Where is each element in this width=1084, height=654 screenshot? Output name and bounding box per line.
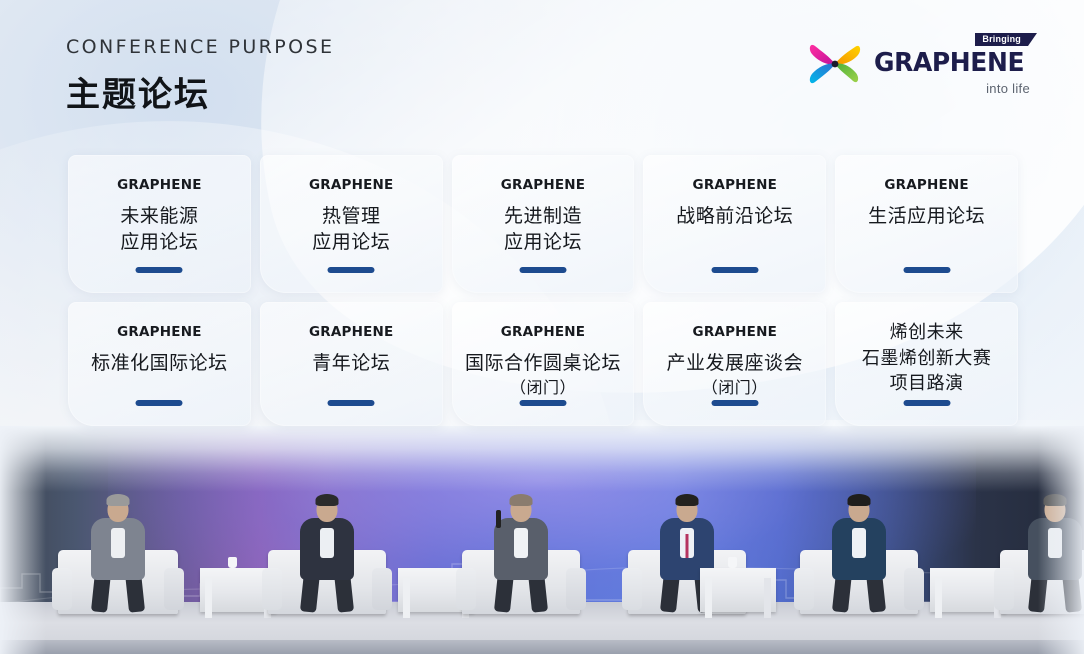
forum-card-accent-bar: [136, 267, 183, 273]
forum-card-accent-bar: [136, 400, 183, 406]
forum-card[interactable]: GRAPHENE热管理应用论坛: [260, 155, 443, 293]
forum-card-title-line: 应用论坛: [504, 230, 582, 256]
forum-card-brand-label: GRAPHENE: [117, 324, 201, 340]
lanyard-icon: [686, 534, 689, 558]
forum-card[interactable]: GRAPHENE战略前沿论坛: [643, 155, 826, 293]
forum-card[interactable]: GRAPHENE生活应用论坛: [835, 155, 1018, 293]
forum-card-title-line: 标准化国际论坛: [91, 351, 228, 377]
forum-card-title-line: 烯创未来: [862, 320, 992, 346]
forum-card-title: 战略前沿论坛: [676, 204, 793, 230]
side-table-3: [700, 568, 776, 612]
forum-card-row: GRAPHENE未来能源应用论坛GRAPHENE热管理应用论坛GRAPHENE先…: [68, 155, 1018, 293]
panelist-1: [58, 488, 178, 614]
forum-card-brand-label: GRAPHENE: [693, 177, 777, 193]
graphene-pinwheel-icon: [802, 34, 868, 96]
forum-card-brand-label: GRAPHENE: [309, 324, 393, 340]
forum-card-title: 未来能源应用论坛: [120, 204, 198, 255]
forum-card-accent-bar: [903, 267, 950, 273]
forum-card-title-line: 战略前沿论坛: [676, 204, 793, 230]
forum-card-title-line: 国际合作圆桌论坛: [465, 351, 621, 377]
logo-tagline: into life: [874, 81, 1030, 96]
forum-card-title-line: 项目路演: [862, 371, 992, 397]
forum-card-accent-bar: [328, 400, 375, 406]
forum-card[interactable]: GRAPHENE标准化国际论坛: [68, 302, 251, 426]
forum-card-brand-label: GRAPHENE: [693, 324, 777, 340]
microphone-icon: [496, 510, 501, 528]
forum-card-title-line: （闭门）: [667, 377, 804, 399]
panelist-6: [1000, 488, 1084, 614]
forum-card-title-line: 产业发展座谈会: [667, 351, 804, 377]
page-title: 主题论坛: [66, 67, 334, 116]
cup-2: [728, 557, 737, 568]
panelist-5: [800, 488, 918, 614]
logo-graphene-text: GRAPHENE: [874, 50, 1024, 76]
forum-card-accent-bar: [711, 400, 758, 406]
forum-card-accent-bar: [328, 267, 375, 273]
slide-root: CONFERENCE PURPOSE 主题论坛: [0, 0, 1084, 654]
forum-card-accent-bar: [711, 267, 758, 273]
forum-card-title: 青年论坛: [312, 351, 390, 377]
forum-card-title-line: （闭门）: [465, 377, 621, 399]
forum-card-brand-label: GRAPHENE: [117, 177, 201, 193]
forum-card-title-line: 先进制造: [504, 204, 582, 230]
forum-card-grid: GRAPHENE未来能源应用论坛GRAPHENE热管理应用论坛GRAPHENE先…: [68, 155, 1018, 426]
forum-card[interactable]: GRAPHENE未来能源应用论坛: [68, 155, 251, 293]
forum-card-title: 热管理应用论坛: [312, 204, 390, 255]
slide-header: CONFERENCE PURPOSE 主题论坛: [66, 36, 334, 116]
forum-card-brand-label: GRAPHENE: [884, 177, 968, 193]
forum-card-brand-label: GRAPHENE: [501, 177, 585, 193]
conference-photo: [0, 426, 1084, 654]
forum-card-accent-bar: [903, 400, 950, 406]
logo-bringing-badge: Bringing: [975, 33, 1028, 46]
forum-card[interactable]: GRAPHENE国际合作圆桌论坛（闭门）: [452, 302, 635, 426]
forum-card-title: 生活应用论坛: [868, 204, 985, 230]
forum-card-title: 国际合作圆桌论坛（闭门）: [465, 351, 621, 398]
forum-card-title: 烯创未来石墨烯创新大赛项目路演: [862, 320, 992, 397]
forum-card-title-line: 石墨烯创新大赛: [862, 346, 992, 372]
forum-card-accent-bar: [519, 267, 566, 273]
panelist-2: [268, 488, 386, 614]
page-kicker: CONFERENCE PURPOSE: [66, 36, 334, 58]
forum-card-title-line: 未来能源: [120, 204, 198, 230]
forum-card-title: 产业发展座谈会（闭门）: [667, 351, 804, 398]
forum-card[interactable]: 烯创未来石墨烯创新大赛项目路演: [835, 302, 1018, 426]
forum-card[interactable]: GRAPHENE先进制造应用论坛: [452, 155, 635, 293]
forum-card-title-line: 生活应用论坛: [868, 204, 985, 230]
forum-card-title-line: 青年论坛: [312, 351, 390, 377]
forum-card-title-line: 应用论坛: [312, 230, 390, 256]
forum-card-title-line: 应用论坛: [120, 230, 198, 256]
stage-front-edge: [0, 640, 1084, 654]
forum-card-title: 先进制造应用论坛: [504, 204, 582, 255]
forum-card-brand-label: GRAPHENE: [309, 177, 393, 193]
logo-wordmark: Bringing GRAPHENE into life: [874, 34, 1030, 96]
forum-card-row: GRAPHENE标准化国际论坛GRAPHENE青年论坛GRAPHENE国际合作圆…: [68, 302, 1018, 426]
forum-card-title: 标准化国际论坛: [91, 351, 228, 377]
forum-card-accent-bar: [519, 400, 566, 406]
forum-card-brand-label: GRAPHENE: [501, 324, 585, 340]
forum-card-title-line: 热管理: [312, 204, 390, 230]
forum-card[interactable]: GRAPHENE产业发展座谈会（闭门）: [643, 302, 826, 426]
forum-card[interactable]: GRAPHENE青年论坛: [260, 302, 443, 426]
panelist-3: [462, 486, 580, 614]
cup-1: [228, 557, 237, 568]
brand-logo: Bringing GRAPHENE into life: [802, 34, 1030, 96]
